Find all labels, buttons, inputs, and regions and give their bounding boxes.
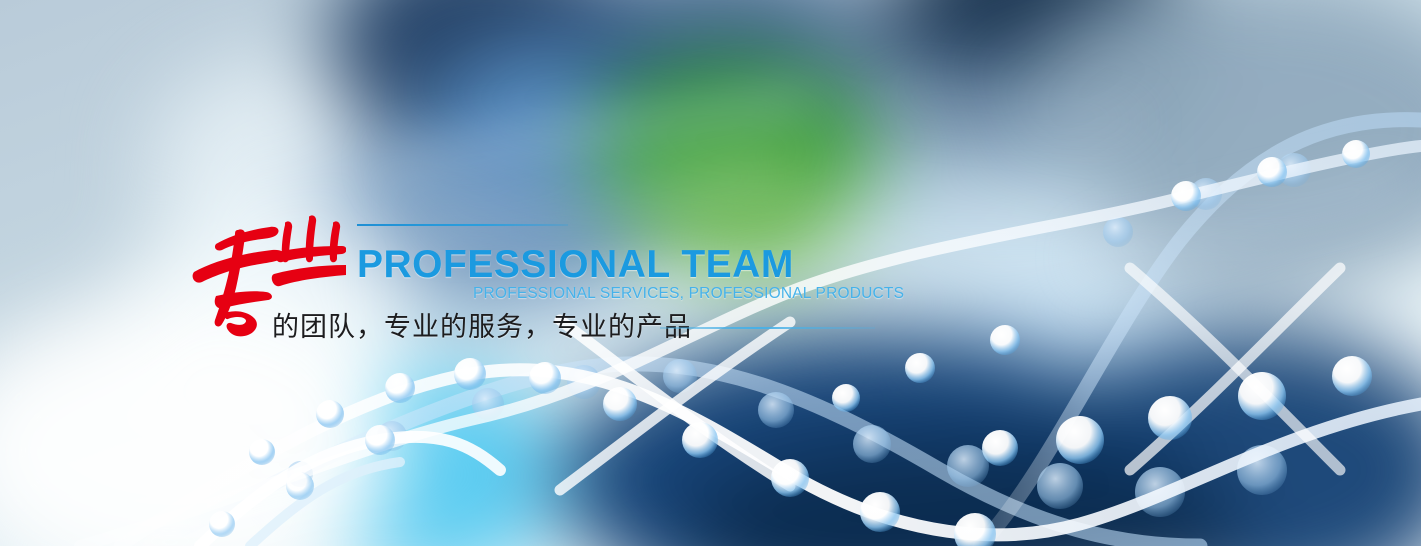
- banner-copy-block: PROFESSIONAL TEAM PROFESSIONAL SERVICES,…: [0, 0, 1421, 546]
- decorative-rule-bottom: [660, 327, 875, 329]
- page-title: PROFESSIONAL TEAM: [357, 243, 794, 287]
- chinese-tagline: 的团队，专业的服务，专业的产品: [272, 305, 692, 344]
- professional-team-banner: PROFESSIONAL TEAM PROFESSIONAL SERVICES,…: [0, 0, 1421, 546]
- page-subtitle: PROFESSIONAL SERVICES, PROFESSIONAL PROD…: [473, 285, 904, 303]
- decorative-rule-top: [357, 224, 568, 226]
